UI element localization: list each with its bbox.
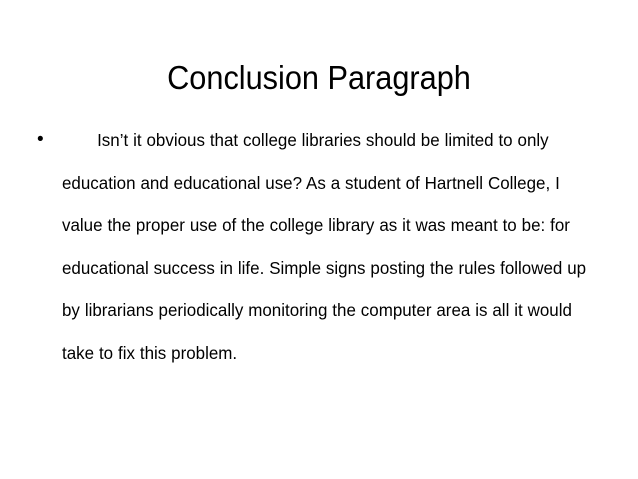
slide-title: Conclusion Paragraph [22,58,615,98]
presentation-slide: Conclusion Paragraph • Isn’t it obvious … [0,0,638,479]
slide-body: • Isn’t it obvious that college librarie… [36,119,614,374]
bullet-item-paragraph: Isn’t it obvious that college libraries … [62,119,600,374]
bullet-list-item: • Isn’t it obvious that college librarie… [36,119,614,374]
bullet-point-icon: • [37,119,53,162]
